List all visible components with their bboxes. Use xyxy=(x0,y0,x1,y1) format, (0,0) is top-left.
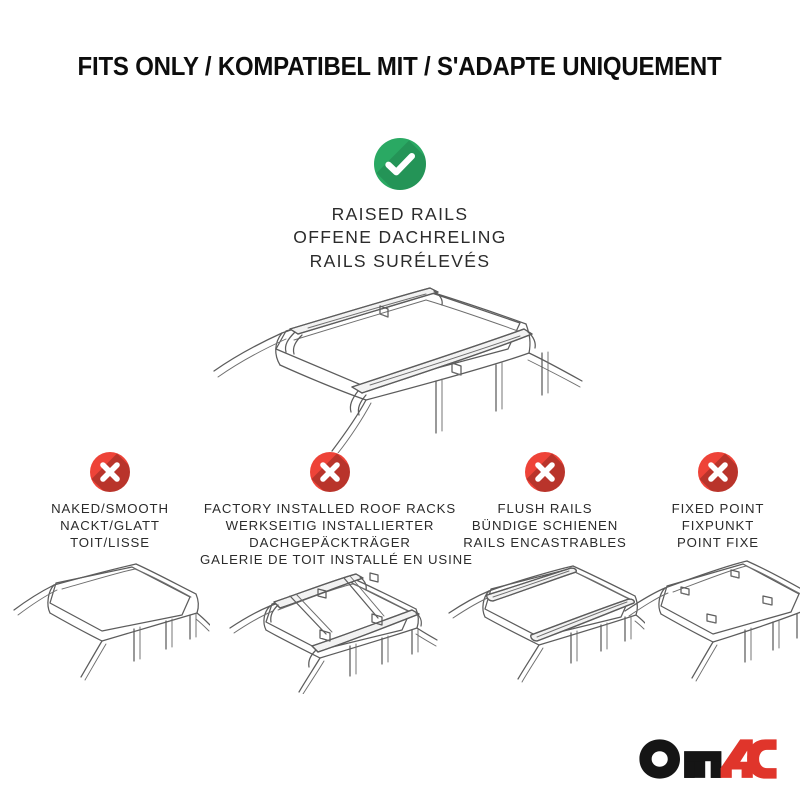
rejected-labels-factory-roof-racks: FACTORY INSTALLED ROOF RACKS WERKSEITIG … xyxy=(200,501,460,569)
rejected-label-fr: TOIT/LISSE xyxy=(20,535,200,552)
title-bar: FITS ONLY / KOMPATIBEL MIT / S'ADAPTE UN… xyxy=(0,55,800,81)
approved-section: RAISED RAILS OFFENE DACHRELING RAILS SUR… xyxy=(0,138,800,273)
car-roof-flush-rails-illustration xyxy=(445,557,645,687)
rejected-label-en: NAKED/SMOOTH xyxy=(20,501,200,518)
x-circle-icon xyxy=(90,452,130,492)
rejected-label-de-2: DACHGEPÄCKTRÄGER xyxy=(200,535,460,552)
rejected-item-naked-smooth: NAKED/SMOOTH NACKT/GLATT TOIT/LISSE xyxy=(20,452,200,552)
x-circle-icon xyxy=(698,452,738,492)
rejected-label-de: NACKT/GLATT xyxy=(20,518,200,535)
rejected-label-en: FIXED POINT xyxy=(638,501,798,518)
rejected-label-de: BÜNDIGE SCHIENEN xyxy=(455,518,635,535)
approved-label-en: RAISED RAILS xyxy=(0,203,800,226)
check-circle-icon xyxy=(374,138,426,190)
rejected-label-fr: POINT FIXE xyxy=(638,535,798,552)
rejected-item-flush-rails: FLUSH RAILS BÜNDIGE SCHIENEN RAILS ENCAS… xyxy=(455,452,635,552)
omac-logo xyxy=(638,738,778,780)
rejected-labels-naked-smooth: NAKED/SMOOTH NACKT/GLATT TOIT/LISSE xyxy=(20,501,200,552)
approved-label-de: OFFENE DACHRELING xyxy=(0,226,800,249)
rejected-section: NAKED/SMOOTH NACKT/GLATT TOIT/LISSE xyxy=(0,452,800,702)
rejected-labels-fixed-point: FIXED POINT FIXPUNKT POINT FIXE xyxy=(638,501,798,552)
rejected-label-fr: RAILS ENCASTRABLES xyxy=(455,535,635,552)
compatibility-infographic: FITS ONLY / KOMPATIBEL MIT / S'ADAPTE UN… xyxy=(0,0,800,800)
rejected-label-en: FLUSH RAILS xyxy=(455,501,635,518)
approved-label-fr: RAILS SURÉLEVÉS xyxy=(0,250,800,273)
x-circle-icon xyxy=(310,452,350,492)
x-circle-icon xyxy=(525,452,565,492)
rejected-label-en: FACTORY INSTALLED ROOF RACKS xyxy=(200,501,460,518)
logo-letter-o xyxy=(639,739,680,778)
approved-labels: RAISED RAILS OFFENE DACHRELING RAILS SUR… xyxy=(0,203,800,273)
car-roof-fixed-point-illustration xyxy=(623,552,800,687)
car-roof-naked-smooth-illustration xyxy=(10,557,210,687)
page-title: FITS ONLY / KOMPATIBEL MIT / S'ADAPTE UN… xyxy=(78,55,722,81)
rejected-label-de-1: WERKSEITIG INSTALLIERTER xyxy=(200,518,460,535)
rejected-label-de: FIXPUNKT xyxy=(638,518,798,535)
car-roof-with-raised-rails-illustration xyxy=(190,283,630,453)
rejected-item-fixed-point: FIXED POINT FIXPUNKT POINT FIXE xyxy=(638,452,798,552)
car-roof-factory-roof-racks-illustration xyxy=(220,564,440,694)
rejected-item-factory-roof-racks: FACTORY INSTALLED ROOF RACKS WERKSEITIG … xyxy=(200,452,460,569)
rejected-labels-flush-rails: FLUSH RAILS BÜNDIGE SCHIENEN RAILS ENCAS… xyxy=(455,501,635,552)
